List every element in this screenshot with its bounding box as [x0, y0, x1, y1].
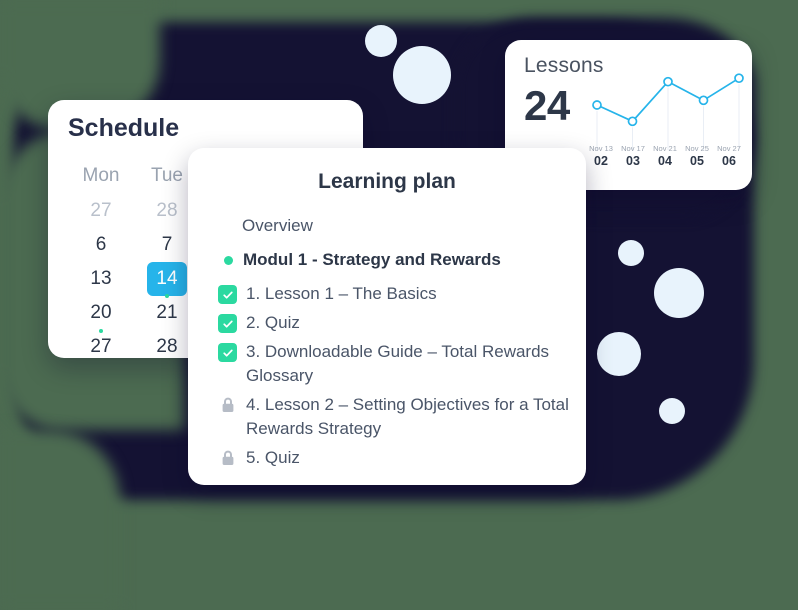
calendar-day-cell[interactable]: 13 — [68, 262, 134, 296]
check-icon — [218, 314, 237, 333]
module-bullet-icon — [224, 256, 233, 265]
calendar-week-row: 67 — [68, 228, 200, 262]
calendar-week-row: 1314 — [68, 262, 200, 296]
module-row[interactable]: Modul 1 - Strategy and Rewards — [224, 250, 586, 270]
calendar-day-cell[interactable]: 6 — [68, 228, 134, 262]
learning-plan-title: Learning plan — [188, 170, 586, 194]
bubble-1 — [365, 25, 397, 57]
learning-plan-card: Learning plan Overview Modul 1 - Strateg… — [188, 148, 586, 485]
bubble-4 — [654, 268, 704, 318]
x-tick-day: 02 — [585, 154, 617, 169]
calendar-weekday-row: MonTue — [68, 158, 200, 194]
x-tick-month: Nov 17 — [617, 144, 649, 154]
calendar-day-selected: 14 — [147, 262, 187, 296]
data-point-2 — [629, 117, 637, 125]
x-tick-2: Nov 1703 — [617, 144, 649, 178]
x-tick-4: Nov 2505 — [681, 144, 713, 178]
lessons-value: 24 — [524, 82, 570, 130]
x-tick-month: Nov 25 — [681, 144, 713, 154]
x-tick-3: Nov 2104 — [649, 144, 681, 178]
module-label: Modul 1 - Strategy and Rewards — [243, 250, 501, 270]
lesson-list-item[interactable]: 4. Lesson 2 – Setting Objectives for a T… — [218, 393, 586, 441]
x-tick-5: Nov 2706 — [713, 144, 745, 178]
x-tick-month: Nov 27 — [713, 144, 745, 154]
lock-icon — [218, 449, 237, 468]
x-tick-day: 04 — [649, 154, 681, 169]
lesson-list: 1. Lesson 1 – The Basics2. Quiz3. Downlo… — [188, 282, 586, 470]
bubble-3 — [618, 240, 644, 266]
x-tick-day: 06 — [713, 154, 745, 169]
lesson-list-item[interactable]: 1. Lesson 1 – The Basics — [218, 282, 586, 306]
bubble-2 — [393, 46, 451, 104]
x-tick-day: 03 — [617, 154, 649, 169]
overview-label: Overview — [242, 216, 586, 236]
data-point-4 — [700, 96, 708, 104]
illustration-stage: Lessons 24 Nov 1302Nov 1703Nov 2104Nov 2… — [0, 0, 798, 539]
check-icon — [218, 285, 237, 304]
weekday-mon: Mon — [68, 158, 134, 194]
check-icon — [218, 343, 237, 362]
x-tick-month: Nov 21 — [649, 144, 681, 154]
calendar-day-cell[interactable]: 27 — [68, 330, 134, 358]
chart-x-axis: Nov 1302Nov 1703Nov 2104Nov 2505Nov 2706 — [585, 144, 745, 178]
calendar-week-row: 2728 — [68, 194, 200, 228]
x-tick-month: Nov 13 — [585, 144, 617, 154]
schedule-title: Schedule — [68, 114, 179, 143]
calendar-day-cell[interactable]: 27 — [68, 194, 134, 228]
calendar-grid: MonTue272867131420212728 — [68, 158, 200, 358]
data-point-3 — [664, 78, 672, 86]
x-tick-1: Nov 1302 — [585, 144, 617, 178]
calendar-event-dot — [99, 329, 103, 333]
lesson-list-item[interactable]: 2. Quiz — [218, 311, 586, 335]
calendar-week-row: 2021 — [68, 296, 200, 330]
lesson-item-label: 1. Lesson 1 – The Basics — [246, 282, 437, 306]
lessons-line-chart — [585, 62, 751, 152]
x-tick-day: 05 — [681, 154, 713, 169]
lesson-item-label: 5. Quiz — [246, 446, 300, 470]
calendar-week-row: 2728 — [68, 330, 200, 358]
lesson-item-label: 3. Downloadable Guide – Total Rewards Gl… — [246, 340, 570, 388]
lesson-item-label: 2. Quiz — [246, 311, 300, 335]
data-point-1 — [593, 101, 601, 109]
lock-icon — [218, 396, 237, 415]
data-point-5 — [735, 74, 743, 82]
lesson-item-label: 4. Lesson 2 – Setting Objectives for a T… — [246, 393, 570, 441]
blob-notch-bottom-left — [0, 430, 120, 610]
lesson-list-item[interactable]: 3. Downloadable Guide – Total Rewards Gl… — [218, 340, 586, 388]
calendar-day-cell[interactable]: 20 — [68, 296, 134, 330]
bubble-5 — [597, 332, 641, 376]
chart-gridlines — [597, 84, 739, 150]
bubble-6 — [659, 398, 685, 424]
lesson-list-item[interactable]: 5. Quiz — [218, 446, 586, 470]
